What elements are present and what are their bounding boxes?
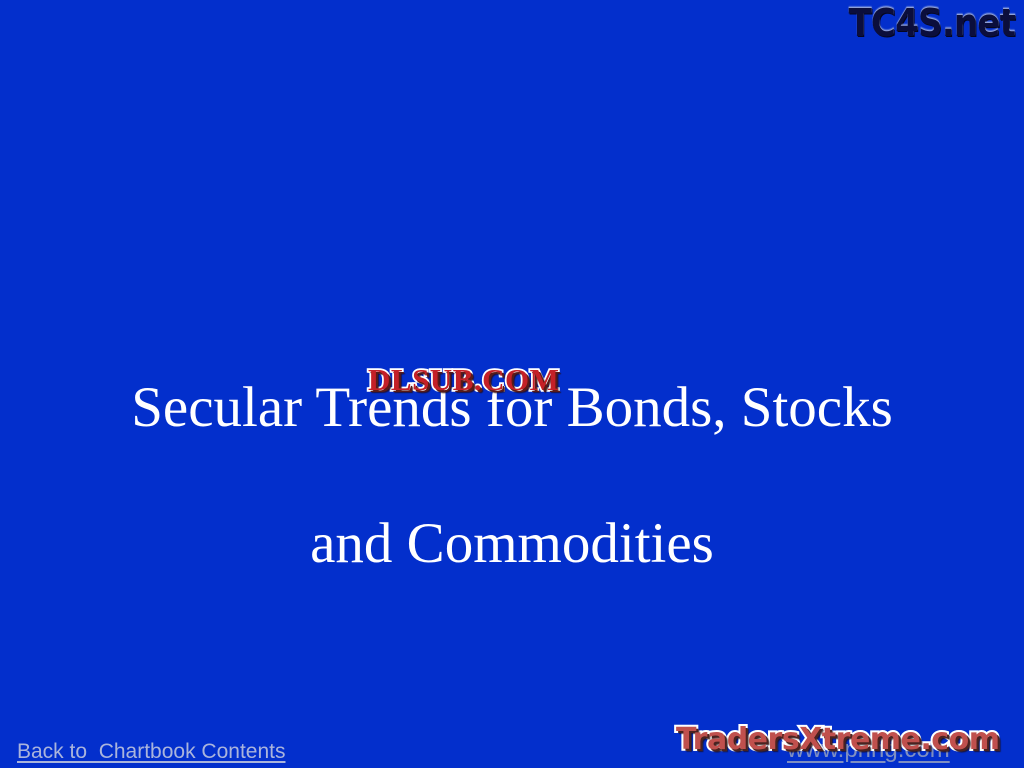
page-title-line-2: and Commodities bbox=[0, 510, 1024, 578]
dlsub-com-watermark: DLSUB.COM bbox=[368, 363, 559, 396]
tradersxtreme-com-watermark-logo: TradersXtreme.com bbox=[676, 722, 999, 758]
back-to-chartbook-contents-link[interactable]: Back to Chartbook Contents bbox=[17, 739, 285, 764]
presentation-slide: TC4S.net Secular Trends for Bonds, Stock… bbox=[0, 0, 1024, 768]
tc4s-net-watermark-logo: TC4S.net bbox=[848, 1, 1015, 45]
page-title: Secular Trends for Bonds, Stocks and Com… bbox=[0, 306, 1024, 646]
